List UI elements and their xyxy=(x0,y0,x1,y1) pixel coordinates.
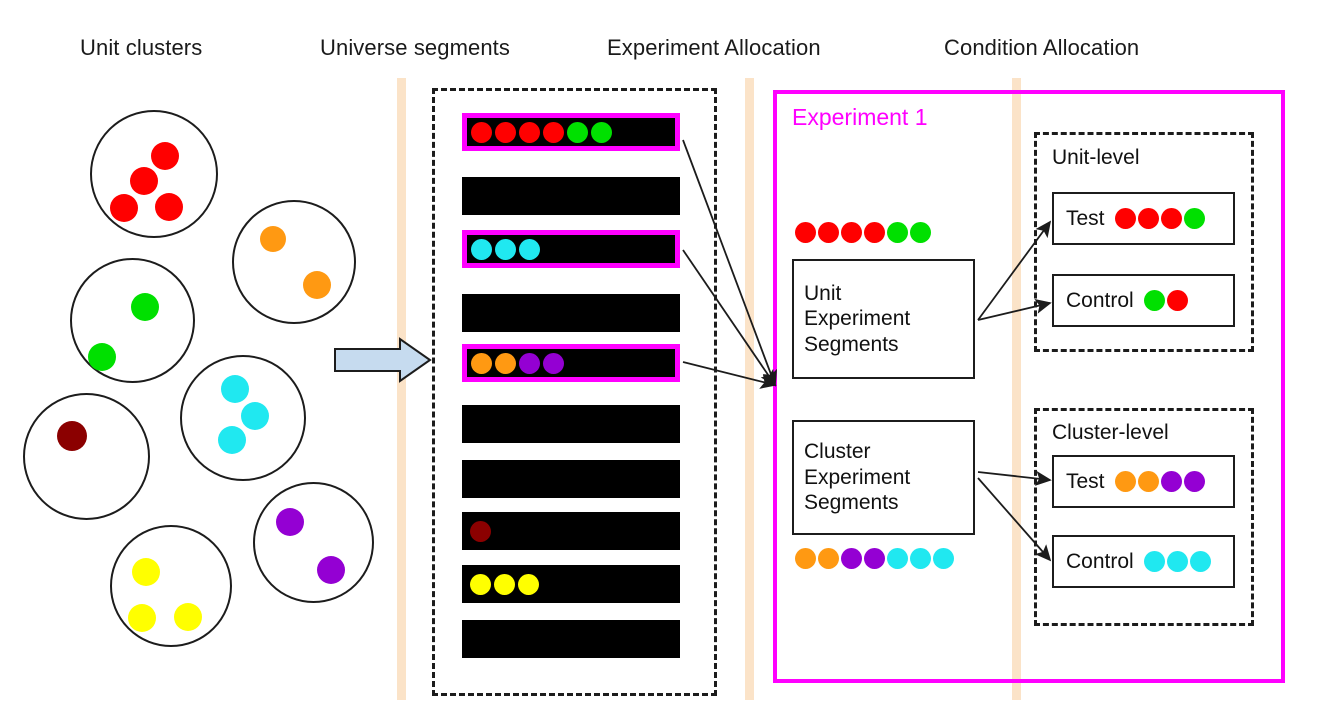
unit-level-test-dot-row xyxy=(1115,208,1205,229)
header-universe-segments: Universe segments xyxy=(320,35,510,61)
cluster-dot-yellow xyxy=(174,603,202,631)
dot-cyan xyxy=(933,548,954,569)
segment-dot-red xyxy=(519,122,540,143)
unit-experiment-dot-row xyxy=(795,222,931,243)
segment-dot-cyan xyxy=(495,239,516,260)
universe-segment-7[interactable] xyxy=(462,460,680,498)
cluster-darkred xyxy=(23,393,150,520)
header-condition-allocation: Condition Allocation xyxy=(944,35,1139,61)
divider-bar-2 xyxy=(745,78,754,700)
segment-dot-darkred xyxy=(470,521,491,542)
cluster-dot-darkred xyxy=(57,421,87,451)
cluster-dot-yellow xyxy=(128,604,156,632)
universe-segment-3[interactable] xyxy=(462,230,680,268)
segment-dot-yellow xyxy=(518,574,539,595)
cluster-dot-red xyxy=(151,142,179,170)
cluster-red xyxy=(90,110,218,238)
cluster-dot-yellow xyxy=(132,558,160,586)
dot-red xyxy=(1115,208,1136,229)
cluster-dot-red xyxy=(130,167,158,195)
dot-red xyxy=(1161,208,1182,229)
cluster-dot-cyan xyxy=(221,375,249,403)
cluster-dot-cyan xyxy=(218,426,246,454)
unit-level-test-label: Test xyxy=(1066,207,1105,231)
segment-dot-green xyxy=(567,122,588,143)
experiment-title: Experiment 1 xyxy=(792,104,928,131)
cluster-dot-orange xyxy=(303,271,331,299)
dot-green xyxy=(910,222,931,243)
dot-orange xyxy=(818,548,839,569)
dot-purple xyxy=(1184,471,1205,492)
cluster-dot-cyan xyxy=(241,402,269,430)
cluster-experiment-dot-row xyxy=(795,548,954,569)
pipeline-arrow xyxy=(334,337,432,383)
unit-level-control-box: Control xyxy=(1052,274,1235,327)
segment-dot-orange xyxy=(471,353,492,374)
universe-segment-5[interactable] xyxy=(462,344,680,382)
dot-purple xyxy=(864,548,885,569)
universe-segment-1[interactable] xyxy=(462,113,680,151)
cluster-level-test-label: Test xyxy=(1066,470,1105,494)
dot-green xyxy=(887,222,908,243)
divider-bar-1 xyxy=(397,78,406,700)
cluster-dot-green xyxy=(131,293,159,321)
dot-cyan xyxy=(1167,551,1188,572)
segment-dot-purple xyxy=(519,353,540,374)
segment-dot-red xyxy=(495,122,516,143)
unit-level-control-dot-row xyxy=(1144,290,1188,311)
dot-red xyxy=(795,222,816,243)
cluster-dot-red xyxy=(155,193,183,221)
universe-segment-9[interactable] xyxy=(462,565,680,603)
header-unit-clusters: Unit clusters xyxy=(80,35,202,61)
cluster-orange xyxy=(232,200,356,324)
dot-red xyxy=(1138,208,1159,229)
universe-segment-2[interactable] xyxy=(462,177,680,215)
dot-green xyxy=(1144,290,1165,311)
cluster-yellow xyxy=(110,525,232,647)
header-experiment-allocation: Experiment Allocation xyxy=(607,35,821,61)
unit-experiment-segments-label: Unit Experiment Segments xyxy=(794,281,910,358)
cluster-level-control-label: Control xyxy=(1066,550,1134,574)
unit-experiment-segments-box: Unit Experiment Segments xyxy=(792,259,975,379)
segment-dot-red xyxy=(471,122,492,143)
cluster-purple xyxy=(253,482,374,603)
dot-purple xyxy=(841,548,862,569)
universe-segment-10[interactable] xyxy=(462,620,680,658)
dot-cyan xyxy=(887,548,908,569)
dot-purple xyxy=(1161,471,1182,492)
cluster-dot-purple xyxy=(276,508,304,536)
unit-level-title: Unit-level xyxy=(1052,146,1140,170)
unit-level-test-box: Test xyxy=(1052,192,1235,245)
dot-red xyxy=(841,222,862,243)
dot-red xyxy=(1167,290,1188,311)
cluster-level-test-box: Test xyxy=(1052,455,1235,508)
cluster-experiment-segments-label: Cluster Experiment Segments xyxy=(794,439,910,516)
universe-segment-8[interactable] xyxy=(462,512,680,550)
dot-orange xyxy=(795,548,816,569)
dot-orange xyxy=(1138,471,1159,492)
cluster-dot-red xyxy=(110,194,138,222)
unit-level-control-label: Control xyxy=(1066,289,1134,313)
cluster-dot-orange xyxy=(260,226,286,252)
dot-cyan xyxy=(1190,551,1211,572)
dot-orange xyxy=(1115,471,1136,492)
segment-dot-cyan xyxy=(471,239,492,260)
segment-dot-cyan xyxy=(519,239,540,260)
cluster-cyan xyxy=(180,355,306,481)
segment-dot-red xyxy=(543,122,564,143)
cluster-dot-purple xyxy=(317,556,345,584)
dot-cyan xyxy=(1144,551,1165,572)
segment-dot-yellow xyxy=(470,574,491,595)
dot-red xyxy=(864,222,885,243)
segment-dot-green xyxy=(591,122,612,143)
cluster-level-control-dot-row xyxy=(1144,551,1211,572)
cluster-green xyxy=(70,258,195,383)
cluster-level-title: Cluster-level xyxy=(1052,421,1169,445)
cluster-dot-green xyxy=(88,343,116,371)
cluster-experiment-segments-box: Cluster Experiment Segments xyxy=(792,420,975,535)
universe-segment-6[interactable] xyxy=(462,405,680,443)
cluster-level-test-dot-row xyxy=(1115,471,1205,492)
segment-dot-orange xyxy=(495,353,516,374)
cluster-level-control-box: Control xyxy=(1052,535,1235,588)
diagram-canvas: Unit clusters Universe segments Experime… xyxy=(0,0,1322,720)
dot-green xyxy=(1184,208,1205,229)
universe-segment-4[interactable] xyxy=(462,294,680,332)
dot-red xyxy=(818,222,839,243)
segment-dot-purple xyxy=(543,353,564,374)
segment-dot-yellow xyxy=(494,574,515,595)
dot-cyan xyxy=(910,548,931,569)
